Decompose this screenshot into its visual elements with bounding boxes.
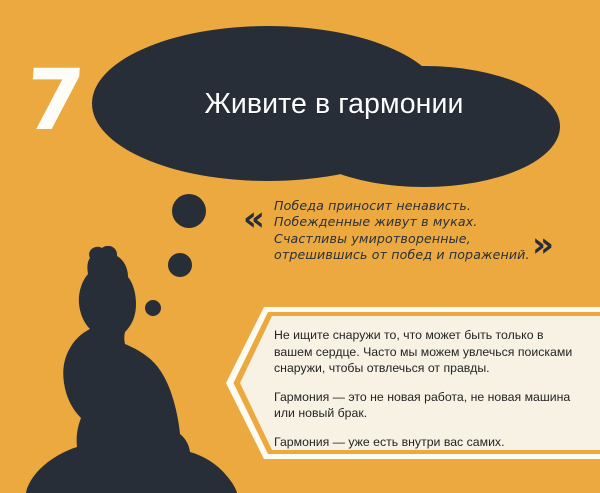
quote-open-chevron-icon: « — [243, 202, 259, 236]
quote-line: отрешившись от побед и поражений. — [274, 247, 566, 263]
slide-number: 7 — [15, 55, 93, 145]
quote-text: Победа приносит ненависть. Побежденные ж… — [274, 198, 566, 264]
advice-paragraph: Гармония — уже есть внутри вас самих. — [274, 434, 574, 451]
quote-line: Счастливы умиротворенные, — [274, 231, 566, 247]
advice-text: Не ищите снаружи то, что может быть толь… — [274, 327, 574, 451]
thought-dot-large — [172, 194, 206, 228]
quote-line: Побежденные живут в муках. — [274, 214, 566, 230]
title-cloud: Живите в гармонии — [92, 14, 562, 194]
advice-panel: Не ищите снаружи то, что может быть толь… — [226, 307, 600, 459]
page-title: Живите в гармонии — [92, 14, 562, 194]
advice-paragraph: Не ищите снаружи то, что может быть толь… — [274, 327, 574, 377]
quote-line: Победа приносит ненависть. — [274, 198, 566, 214]
quote-close-chevron-icon: » — [532, 228, 548, 262]
quote-block: « Победа приносит ненависть. Побежденные… — [243, 198, 593, 270]
infographic-poster: 7 Живите в гармонии « Победа приносит не… — [0, 0, 600, 493]
buddha-silhouette-icon — [24, 246, 239, 493]
advice-paragraph: Гармония — это не новая работа, не новая… — [274, 389, 574, 422]
